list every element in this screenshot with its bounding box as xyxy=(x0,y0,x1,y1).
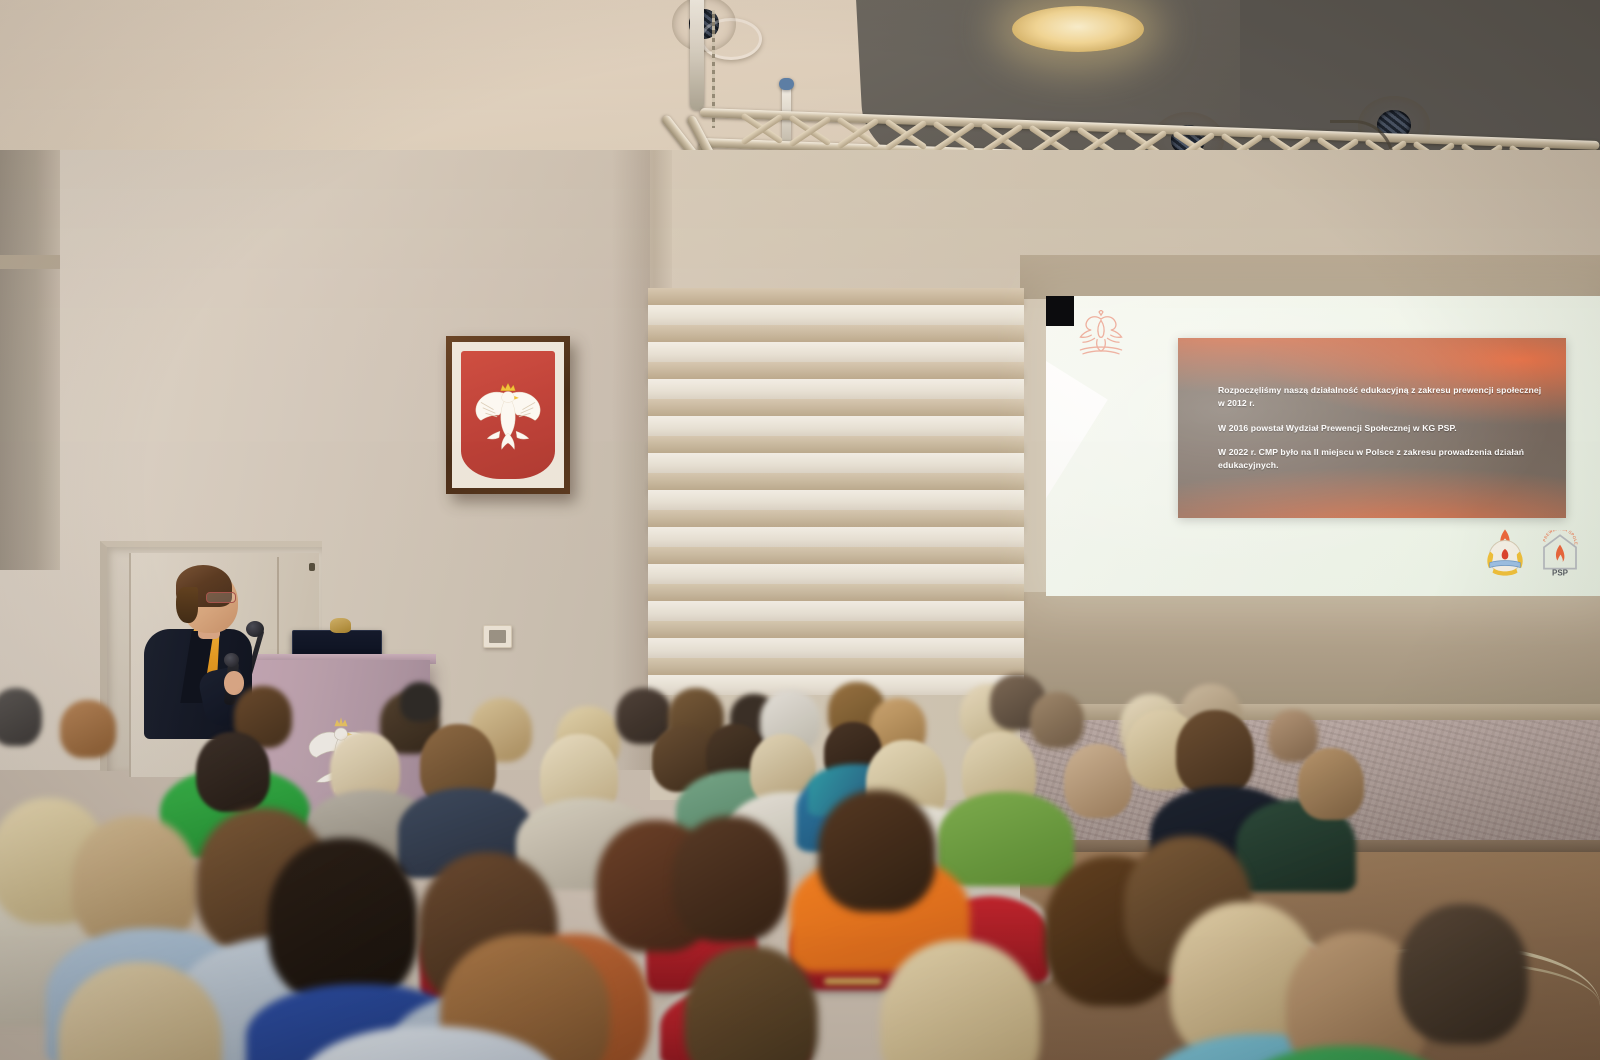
audience-seating xyxy=(0,640,1600,1060)
slide-crest-icon xyxy=(1068,310,1134,368)
svg-text:PSP: PSP xyxy=(1552,568,1569,577)
audience-shoulders xyxy=(938,792,1074,886)
conference-photo: Rozpoczęliśmy naszą działalność edukacyj… xyxy=(0,0,1600,1060)
acoustic-slat xyxy=(648,584,1024,601)
audience-head xyxy=(1030,692,1084,748)
truss-pipe-cap xyxy=(779,78,794,90)
acoustic-slat xyxy=(648,399,1024,416)
acoustic-slat-gap xyxy=(648,379,1024,399)
presenter-glasses xyxy=(206,592,236,603)
slide-ribbon-white xyxy=(1046,336,1108,596)
acoustic-slat xyxy=(648,362,1024,379)
prewencja-spoleczna-psp-logo-icon: PSP PREWENCJA SPOŁECZNA xyxy=(1540,530,1580,578)
acoustic-slat-gap xyxy=(648,564,1024,584)
acoustic-slat-gap xyxy=(648,490,1024,510)
polish-eagle-icon xyxy=(463,354,553,477)
lectern-object xyxy=(330,618,351,633)
gooseneck-mic-head xyxy=(246,621,264,637)
audience-head xyxy=(400,682,440,722)
slide-body: Rozpoczęliśmy naszą działalność edukacyj… xyxy=(1218,384,1548,484)
chair-gold-trim xyxy=(824,978,882,985)
projection-screen: Rozpoczęliśmy naszą działalność edukacyj… xyxy=(1046,296,1600,596)
projected-slide: Rozpoczęliśmy naszą działalność edukacyj… xyxy=(1046,296,1600,596)
audience-head xyxy=(60,700,116,758)
acoustic-slat-wall xyxy=(648,288,1024,696)
audience-head xyxy=(818,790,936,912)
emblem-mat xyxy=(452,342,564,488)
audience-head xyxy=(0,688,42,746)
truss-drop-pipe xyxy=(690,0,704,110)
slide-line-3: W 2022 r. CMP było na II miejscu w Polsc… xyxy=(1218,446,1548,473)
acoustic-slat-gap xyxy=(648,453,1024,473)
acoustic-slat xyxy=(648,288,1024,305)
slide-line-1: Rozpoczęliśmy naszą działalność edukacyj… xyxy=(1218,384,1548,411)
audience-head xyxy=(1176,710,1254,796)
acoustic-slat xyxy=(648,473,1024,490)
emblem-red-field xyxy=(461,351,555,479)
acoustic-slat xyxy=(648,621,1024,638)
slide-line-2: W 2016 powstał Wydział Prewencji Społecz… xyxy=(1218,422,1548,435)
audience-head xyxy=(672,816,788,942)
presenter-hair-side xyxy=(176,587,198,623)
screen-corner-shadow xyxy=(1046,296,1074,326)
wall-upper-band xyxy=(1020,255,1600,299)
acoustic-slat xyxy=(648,325,1024,342)
acoustic-slat xyxy=(648,547,1024,564)
audience-head xyxy=(1298,748,1364,820)
acoustic-slat-gap xyxy=(648,305,1024,325)
acoustic-slat-gap xyxy=(648,342,1024,362)
wall-soffit xyxy=(0,255,60,269)
wall-coat-of-arms-frame xyxy=(446,336,570,494)
acoustic-slat-gap xyxy=(648,527,1024,547)
audience-head xyxy=(196,732,270,812)
acoustic-slat-gap xyxy=(648,601,1024,621)
door-sensor xyxy=(309,563,315,571)
far-wall-shadow xyxy=(0,150,60,570)
audience-head xyxy=(1064,744,1132,818)
slide-logo-row: PSP PREWENCJA SPOŁECZNA xyxy=(1484,528,1580,578)
audience-head xyxy=(1398,904,1528,1044)
audience-head xyxy=(268,838,418,1004)
slide-text-panel: Rozpoczęliśmy naszą działalność edukacyj… xyxy=(1178,338,1566,518)
psp-emblem-icon xyxy=(1484,528,1526,578)
acoustic-slat xyxy=(648,510,1024,527)
acoustic-slat-gap xyxy=(648,416,1024,436)
svg-text:PREWENCJA SPOŁECZNA: PREWENCJA SPOŁECZNA xyxy=(1540,530,1579,545)
acoustic-slat xyxy=(648,436,1024,453)
